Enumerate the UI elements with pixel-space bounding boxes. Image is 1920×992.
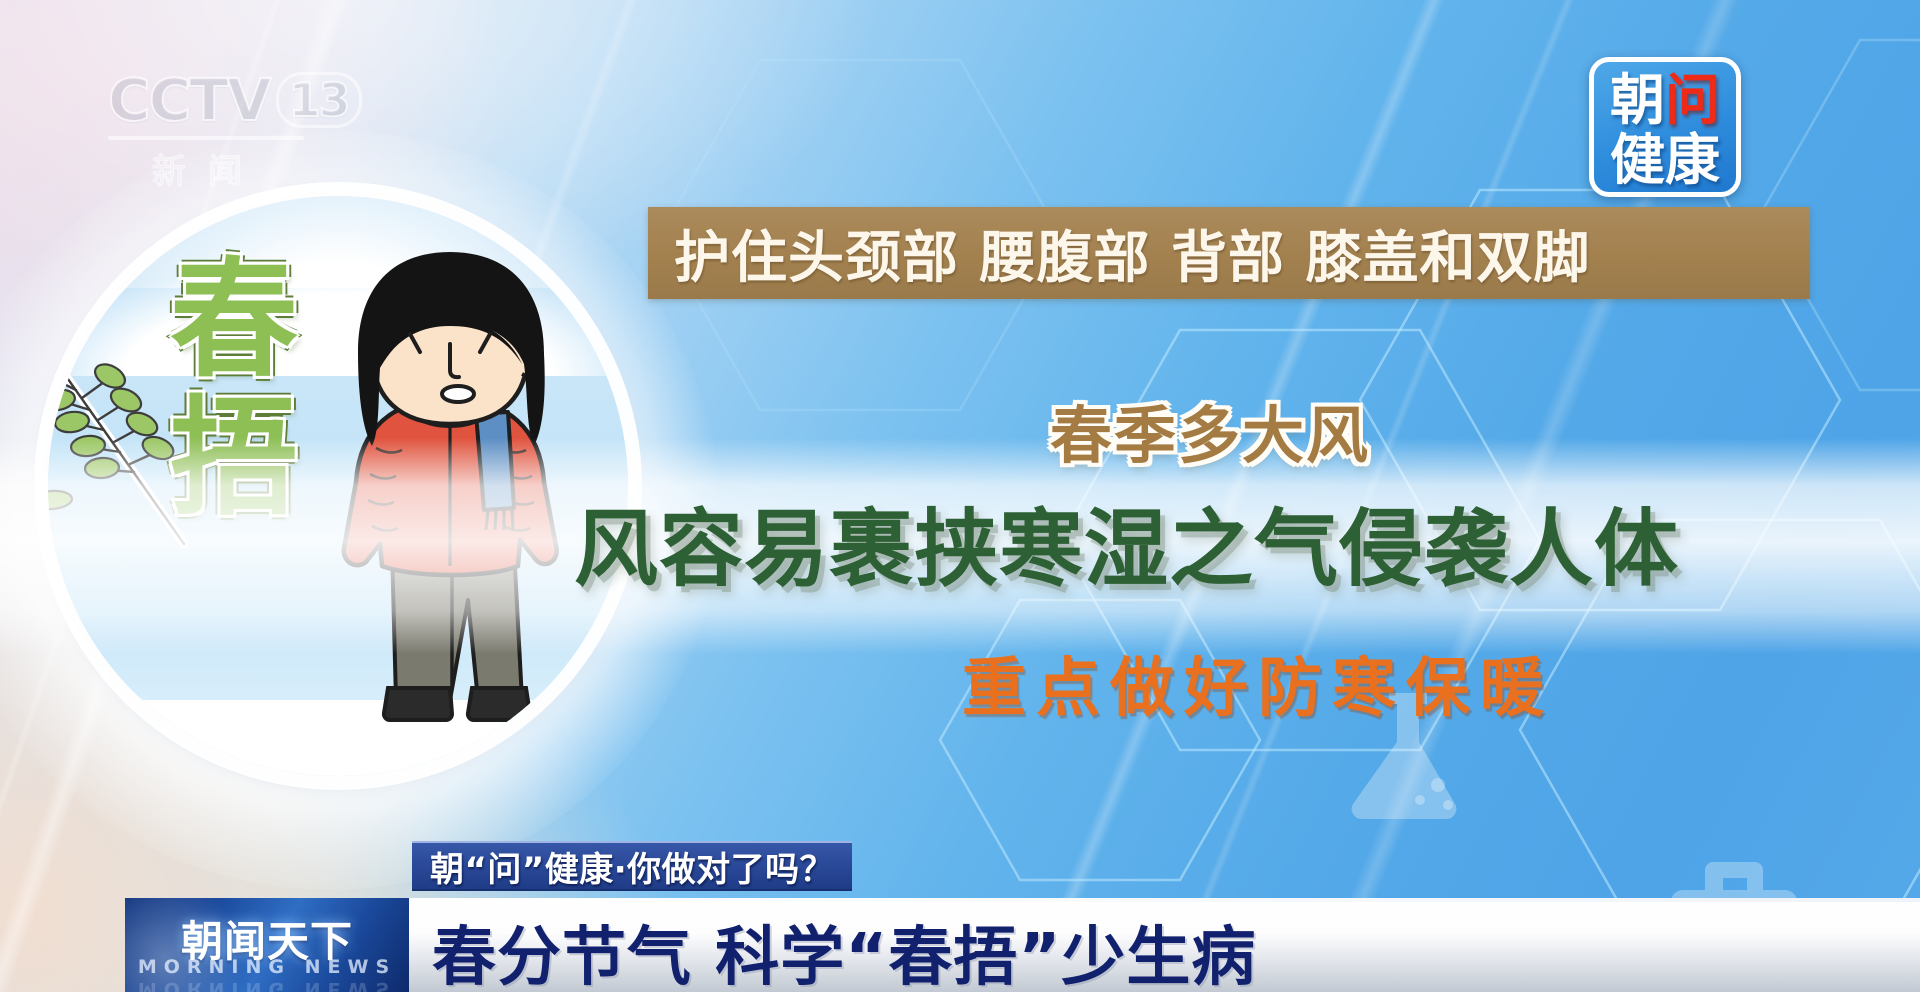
tan-headline-text: 护住头颈部 腰腹部 背部 膝盖和双脚 bbox=[674, 213, 1591, 294]
sub-banner-text: 朝“问”健康·你做对了吗？ bbox=[430, 842, 834, 891]
program-badge-chao-wen-jian-kang: 朝 问 健康 bbox=[1589, 57, 1741, 197]
lower-third: 朝闻天下 MORNING NEWS MORNING NEWS 春分节气 科学“春… bbox=[0, 892, 1920, 992]
cctv-channel-number: 13 bbox=[276, 72, 362, 128]
lower-third-headline: 春分节气 科学“春捂”少生病 bbox=[432, 906, 1256, 992]
orange-emphasis-char: 做 bbox=[1106, 640, 1178, 726]
program-name-block: 朝闻天下 MORNING NEWS MORNING NEWS bbox=[125, 898, 409, 992]
cctv-network-text: CCTV bbox=[108, 66, 270, 134]
person-mouth bbox=[442, 386, 474, 402]
orange-emphasis-char: 点 bbox=[1032, 640, 1104, 726]
program-badge-text-jiankang: 健康 bbox=[1610, 132, 1720, 188]
broadcast-frame: CCTV 13 新闻 朝 问 健康 春 捂 bbox=[0, 0, 1920, 992]
program-name-en-reflection: MORNING NEWS bbox=[125, 978, 409, 992]
orange-emphasis-char: 暖 bbox=[1476, 640, 1548, 726]
brown-subheadline: 春季多大风 bbox=[1050, 385, 1750, 475]
person-shoe-right bbox=[468, 688, 530, 720]
orange-emphasis-char: 保 bbox=[1402, 640, 1474, 726]
cctv-channel-logo: CCTV 13 新闻 bbox=[108, 66, 348, 174]
program-badge-char-chao: 朝 bbox=[1610, 72, 1665, 128]
brown-subheadline-text: 春季多大风 bbox=[1050, 385, 1750, 475]
person-shoe-left bbox=[384, 688, 452, 720]
orange-emphasis-char: 防 bbox=[1254, 640, 1326, 726]
cctv-underline bbox=[108, 136, 304, 140]
orange-emphasis-char: 寒 bbox=[1328, 640, 1400, 726]
tan-headline-bar: 护住头颈部 腰腹部 背部 膝盖和双脚 bbox=[648, 207, 1810, 299]
cctv-category-text: 新闻 bbox=[108, 144, 308, 193]
program-name-en-text: MORNING NEWS bbox=[125, 956, 409, 978]
orange-emphasis-char: 好 bbox=[1180, 640, 1252, 726]
orange-emphasis-char: 重 bbox=[958, 640, 1030, 726]
green-main-line: 风容易裹挟寒湿之气侵袭人体 bbox=[574, 482, 1920, 603]
orange-emphasis-line: 重点做好防寒保暖 bbox=[958, 640, 1548, 726]
program-badge-char-wen: 问 bbox=[1665, 72, 1720, 128]
sub-banner: 朝“问”健康·你做对了吗？ bbox=[412, 841, 852, 891]
green-main-line-text: 风容易裹挟寒湿之气侵袭人体 bbox=[574, 482, 1920, 603]
